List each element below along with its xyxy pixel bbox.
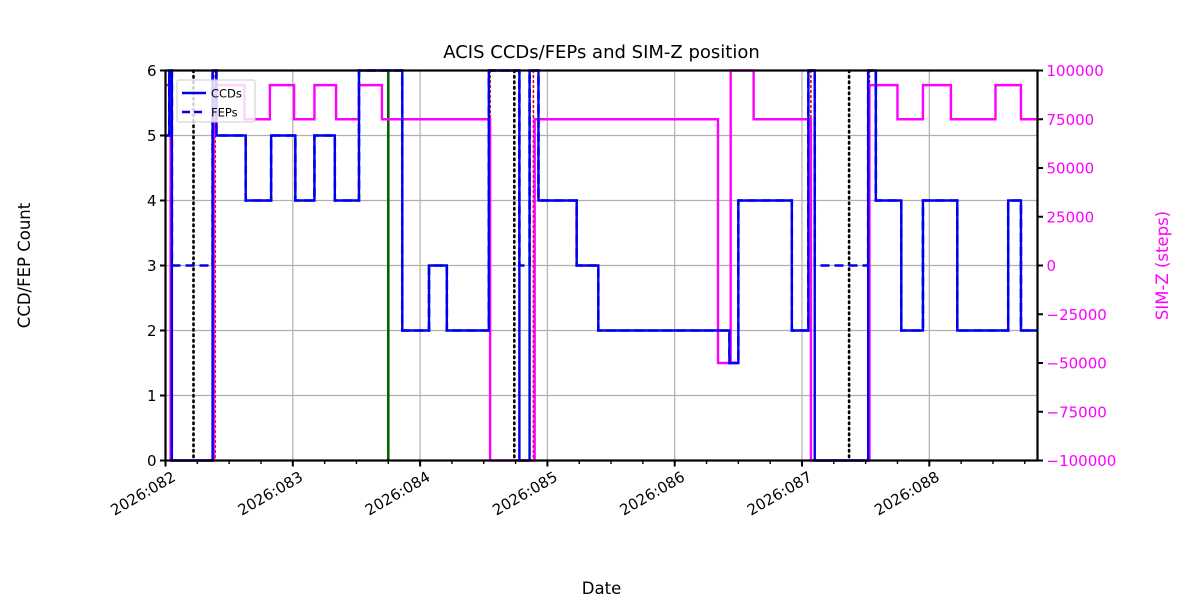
ytick-label-left: 2: [147, 322, 157, 340]
ytick-label-right: 75000: [1047, 111, 1095, 129]
xtick-label: 2026:085: [489, 468, 560, 520]
ytick-label-right: 25000: [1047, 208, 1095, 226]
legend-label-feps: FEPs: [211, 106, 238, 120]
ytick-label-right: −25000: [1047, 306, 1107, 324]
ytick-label-left: 4: [147, 192, 157, 210]
series-line-feps: [166, 71, 1038, 364]
chart-svg: 0123456−100000−75000−50000−2500002500050…: [0, 0, 1200, 600]
xtick-label: 2026:083: [235, 468, 306, 520]
xtick-label: 2026:084: [362, 468, 433, 520]
ytick-label-left: 6: [147, 62, 157, 80]
chart-title: ACIS CCDs/FEPs and SIM-Z position: [443, 42, 760, 63]
legend-label-ccds: CCDs: [211, 87, 242, 101]
ytick-label-left: 3: [147, 257, 157, 275]
xtick-label: 2026:086: [617, 468, 688, 520]
xtick-label: 2026:088: [871, 468, 942, 520]
ytick-label-right: −100000: [1047, 452, 1117, 470]
ytick-label-right: −50000: [1047, 355, 1107, 373]
ytick-label-right: −75000: [1047, 403, 1107, 421]
xtick-label: 2026:087: [744, 468, 815, 520]
ytick-label-left: 0: [147, 452, 157, 470]
ytick-label-left: 1: [147, 387, 157, 405]
xaxis-title: Date: [582, 579, 621, 598]
yaxis-title-right: SIM-Z (steps): [1153, 211, 1172, 320]
ytick-label-right: 0: [1047, 257, 1057, 275]
ytick-label-right: 100000: [1047, 62, 1104, 80]
xtick-label: 2026:082: [107, 468, 178, 520]
figure-canvas: 0123456−100000−75000−50000−2500002500050…: [0, 0, 1200, 600]
yaxis-title-left: CCD/FEP Count: [15, 202, 34, 328]
ytick-label-right: 50000: [1047, 160, 1095, 178]
ytick-label-left: 5: [147, 127, 157, 145]
